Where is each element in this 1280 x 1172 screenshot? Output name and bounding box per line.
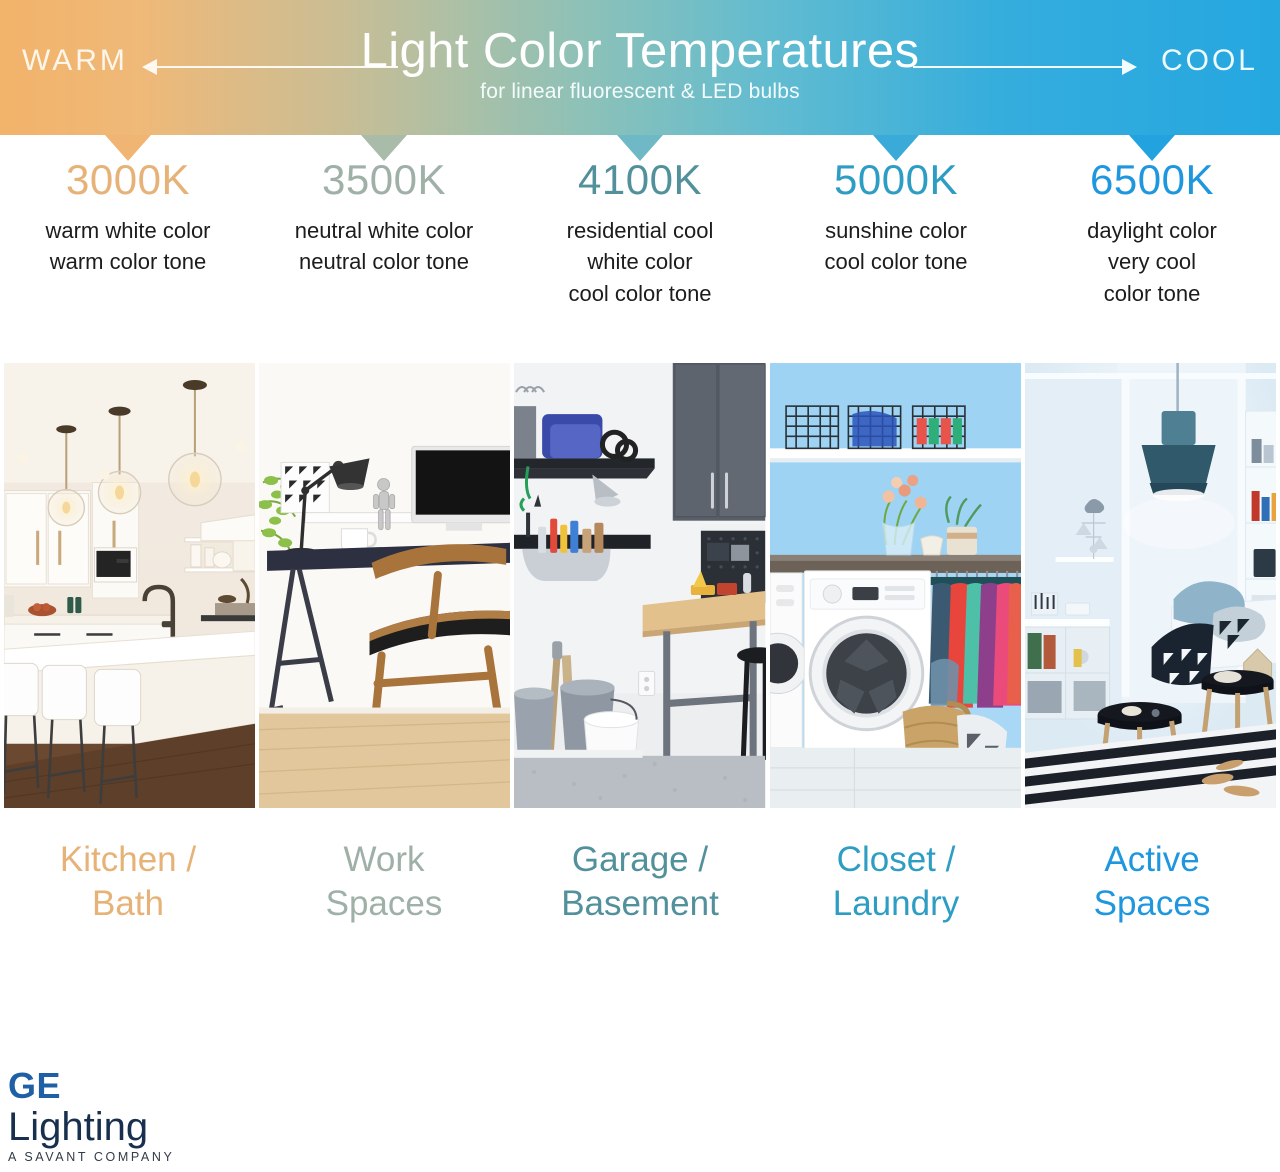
room-label-line-1: Garage / bbox=[518, 838, 762, 882]
column-pointer-icon bbox=[617, 135, 663, 161]
kelvin-desc-line-1: residential cool bbox=[520, 215, 760, 246]
laundry-photo bbox=[770, 363, 1021, 808]
kelvin-description: neutral white color neutral color tone bbox=[264, 215, 504, 277]
cool-label: COOL bbox=[1161, 44, 1258, 78]
activespaces-photo bbox=[1025, 363, 1276, 808]
kelvin-column-6500k: 6500K daylight color very cool color ton… bbox=[1024, 157, 1280, 309]
workspace-photo bbox=[259, 363, 510, 808]
room-label-closet-laundry: Closet / Laundry bbox=[768, 838, 1024, 926]
kelvin-row: 3000K warm white color warm color tone 3… bbox=[0, 157, 1280, 309]
room-label-line-1: Active bbox=[1030, 838, 1274, 882]
column-pointer-icon bbox=[1129, 135, 1175, 161]
ge-lighting-logo: GE Lighting A SAVANT COMPANY bbox=[8, 1068, 174, 1164]
room-label-line-1: Kitchen / bbox=[6, 838, 250, 882]
kelvin-column-4100k: 4100K residential cool white color cool … bbox=[512, 157, 768, 309]
room-label-garage-basement: Garage / Basement bbox=[512, 838, 768, 926]
kelvin-description: daylight color very cool color tone bbox=[1032, 215, 1272, 309]
warm-arrow-line bbox=[150, 66, 398, 68]
kelvin-desc-line-1: neutral white color bbox=[264, 215, 504, 246]
column-pointer-icon bbox=[361, 135, 407, 161]
kelvin-column-3500k: 3500K neutral white color neutral color … bbox=[256, 157, 512, 309]
warm-arrow-icon bbox=[142, 59, 157, 75]
room-label-line-2: Basement bbox=[518, 882, 762, 926]
kelvin-column-3000k: 3000K warm white color warm color tone bbox=[0, 157, 256, 309]
kitchen-photo bbox=[4, 363, 255, 808]
room-label-line-2: Spaces bbox=[1030, 882, 1274, 926]
logo-product: Lighting bbox=[8, 1106, 174, 1148]
kelvin-desc-line-3: color tone bbox=[1032, 278, 1272, 309]
room-label-line-2: Laundry bbox=[774, 882, 1018, 926]
warm-label: WARM bbox=[22, 44, 128, 78]
kelvin-description: warm white color warm color tone bbox=[8, 215, 248, 277]
kelvin-desc-line-2: warm color tone bbox=[8, 246, 248, 277]
kelvin-description: sunshine color cool color tone bbox=[776, 215, 1016, 277]
room-label: Kitchen / Bath bbox=[6, 838, 250, 926]
room-label: Active Spaces bbox=[1030, 838, 1274, 926]
logo-tagline: A SAVANT COMPANY bbox=[8, 1150, 174, 1164]
room-label-line-1: Closet / bbox=[774, 838, 1018, 882]
room-label-line-2: Bath bbox=[6, 882, 250, 926]
kelvin-desc-line-2: cool color tone bbox=[776, 246, 1016, 277]
cool-arrow-icon bbox=[1122, 59, 1137, 75]
kelvin-desc-line-1: daylight color bbox=[1032, 215, 1272, 246]
room-label-work-spaces: Work Spaces bbox=[256, 838, 512, 926]
cool-arrow-line bbox=[913, 66, 1128, 68]
room-label: Work Spaces bbox=[262, 838, 506, 926]
room-label-active-spaces: Active Spaces bbox=[1024, 838, 1280, 926]
kelvin-desc-line-2: white color bbox=[520, 246, 760, 277]
kelvin-column-5000k: 5000K sunshine color cool color tone bbox=[768, 157, 1024, 309]
kelvin-desc-line-3: cool color tone bbox=[520, 278, 760, 309]
kelvin-desc-line-2: very cool bbox=[1032, 246, 1272, 277]
kelvin-desc-line-1: warm white color bbox=[8, 215, 248, 246]
logo-brand: GE bbox=[8, 1068, 174, 1104]
column-pointer-icon bbox=[873, 135, 919, 161]
garage-photo bbox=[514, 363, 765, 808]
kelvin-description: residential cool white color cool color … bbox=[520, 215, 760, 309]
header-banner: WARM COOL Light Color Temperatures for l… bbox=[0, 0, 1280, 135]
column-pointer-icon bbox=[105, 135, 151, 161]
room-label-row: Kitchen / Bath Work Spaces Garage / Base… bbox=[0, 838, 1280, 926]
room-label-line-2: Spaces bbox=[262, 882, 506, 926]
room-label: Garage / Basement bbox=[518, 838, 762, 926]
room-label: Closet / Laundry bbox=[774, 838, 1018, 926]
kelvin-desc-line-2: neutral color tone bbox=[264, 246, 504, 277]
room-label-line-1: Work bbox=[262, 838, 506, 882]
pointer-row bbox=[0, 135, 1280, 165]
kelvin-desc-line-1: sunshine color bbox=[776, 215, 1016, 246]
photo-strip bbox=[0, 363, 1280, 808]
room-label-kitchen-bath: Kitchen / Bath bbox=[0, 838, 256, 926]
